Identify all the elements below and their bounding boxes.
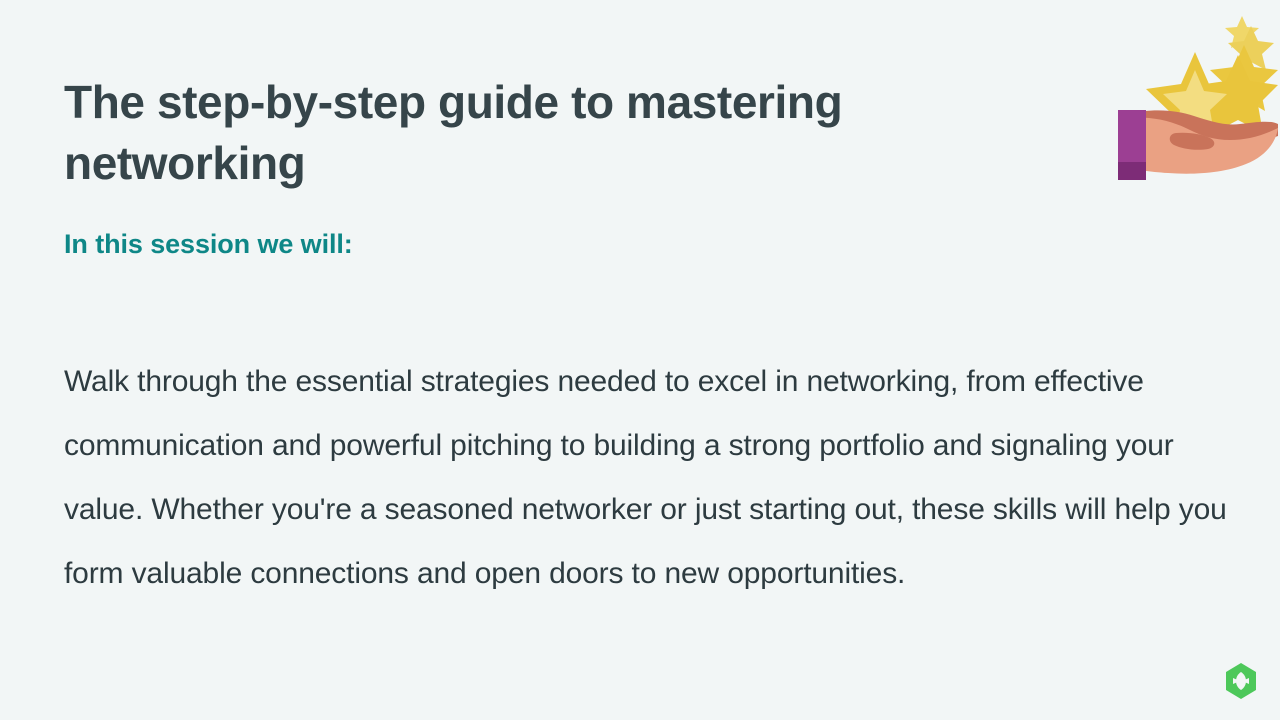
presentation-slide: The step-by-step guide to mastering netw… (0, 0, 1280, 720)
sleeve-cuff-shape (1118, 160, 1146, 180)
session-description: Walk through the essential strategies ne… (64, 350, 1229, 606)
page-title: The step-by-step guide to mastering netw… (64, 72, 964, 194)
session-subheading: In this session we will: (64, 224, 353, 264)
sleeve-shape (1118, 110, 1146, 162)
brand-hexagon-logo (1224, 662, 1258, 700)
hand-holding-stars-icon (1090, 0, 1280, 190)
